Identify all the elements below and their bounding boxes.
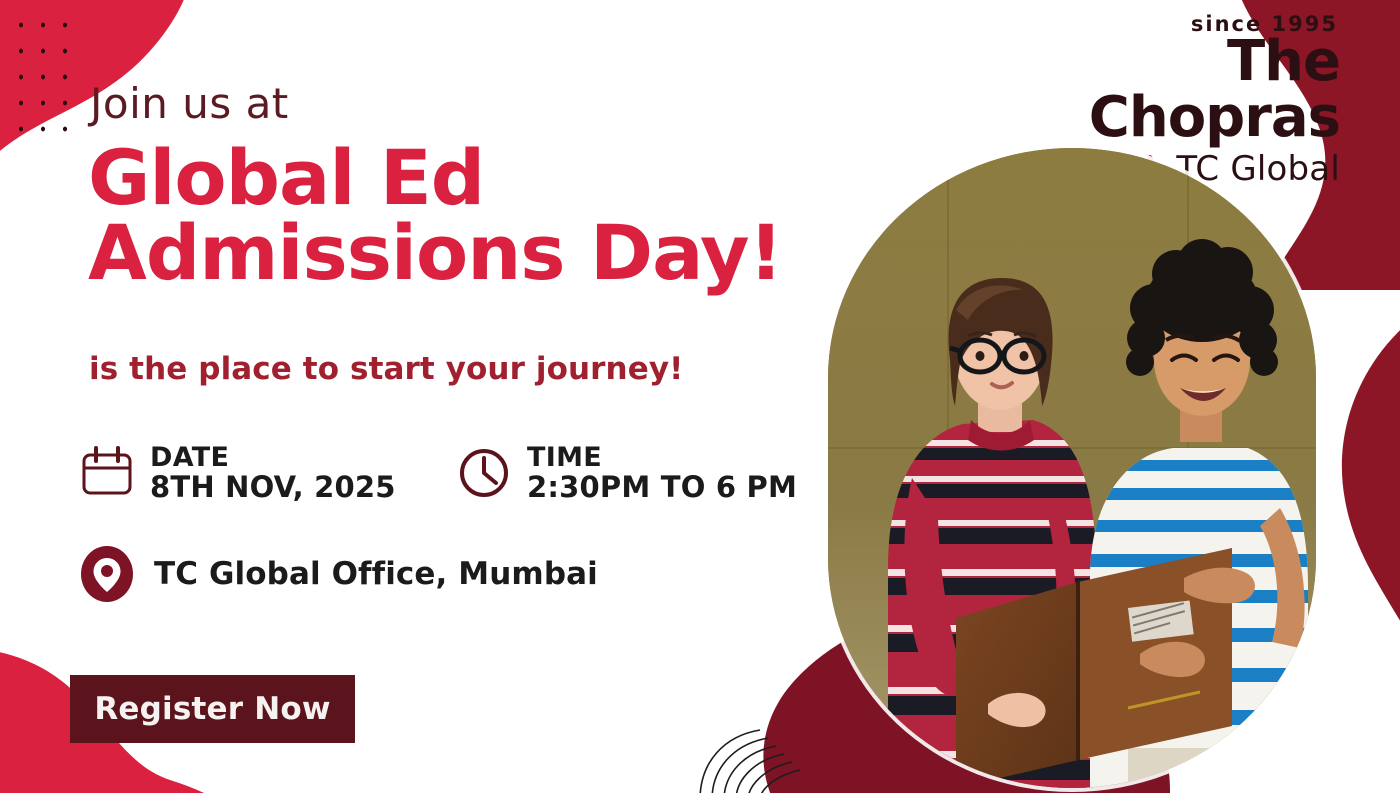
logo-brand-text: The Chopras [1089, 29, 1340, 150]
time-text-block: TIME 2:30PM TO 6 PM [527, 443, 797, 503]
info-row-date: DATE 8TH NOV, 2025 [78, 443, 396, 503]
register-now-button[interactable]: Register Now [70, 675, 355, 743]
location-pin-icon [78, 545, 136, 603]
eyebrow-text: Join us at [90, 79, 289, 128]
event-promo-banner: Join us at Global Ed Admissions Day! is … [0, 0, 1400, 793]
logo-since-text: since 1995 [1191, 12, 1338, 36]
time-value: 2:30PM TO 6 PM [527, 472, 797, 503]
content-column: Join us at Global Ed Admissions Day! is … [0, 0, 820, 793]
logo-sub-text: TC Global [1176, 152, 1340, 186]
date-text-block: DATE 8TH NOV, 2025 [150, 443, 396, 503]
venue-value: TC Global Office, Mumbai [154, 556, 598, 592]
date-label: DATE [150, 443, 396, 472]
clock-icon [455, 443, 513, 501]
date-value: 8TH NOV, 2025 [150, 472, 396, 503]
info-row-venue: TC Global Office, Mumbai [78, 545, 598, 603]
subtitle-text: is the place to start your journey! [89, 351, 683, 387]
page-title: Global Ed Admissions Day! [88, 140, 828, 290]
students-photo [828, 148, 1316, 788]
headline-line-2: Admissions Day! [88, 215, 828, 290]
calendar-icon [78, 443, 136, 501]
register-now-label: Register Now [94, 691, 330, 727]
info-row-time: TIME 2:30PM TO 6 PM [455, 443, 797, 503]
logo-brand-row: since 1995 The Chopras [960, 34, 1340, 146]
time-label: TIME [527, 443, 797, 472]
